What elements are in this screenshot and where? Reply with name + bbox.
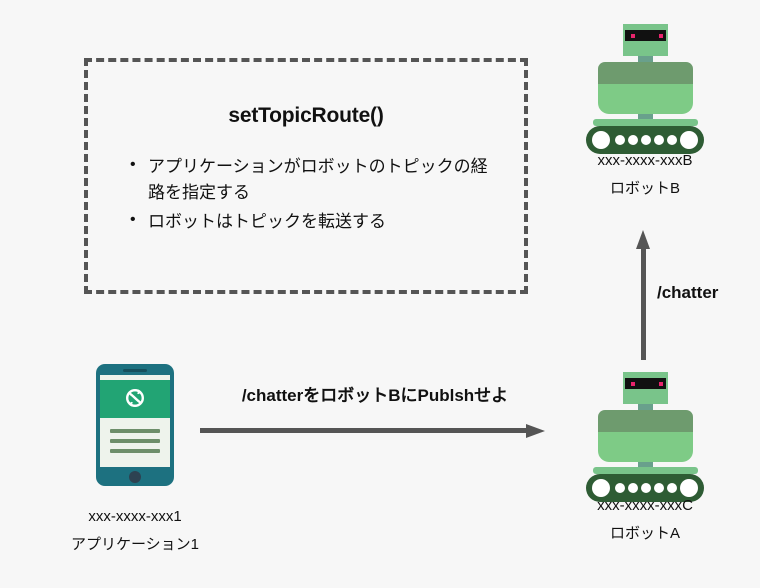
app-logo-icon <box>124 387 146 409</box>
robot-a-id: xxx-xxxx-xxxC <box>535 498 755 513</box>
robot-eye-left <box>631 34 635 38</box>
robot-wheel-small <box>641 135 651 145</box>
robot-wheel-large-left <box>592 131 610 149</box>
robot-wheel-small <box>654 135 664 145</box>
robot-body-lower <box>598 432 693 462</box>
phone-content-line <box>110 439 160 443</box>
application-caption: xxx-xxxx-xxx1 アプリケーション1 <box>25 509 245 552</box>
robot-chassis-bar <box>593 467 698 474</box>
phone-content-line <box>110 449 160 453</box>
arrow-label-publish-command: /chatterをロボットBにPublshせよ <box>200 381 550 406</box>
robot-eye-right <box>659 382 663 386</box>
robot-wheel-small <box>667 135 677 145</box>
robot-body-upper <box>598 410 693 432</box>
robot-eye-right <box>659 34 663 38</box>
robot-a-caption: xxx-xxxx-xxxC ロボットA <box>535 498 755 541</box>
phone-speaker-icon <box>123 369 147 372</box>
robot-wheel-small <box>641 483 651 493</box>
robot-wheel-large-left <box>592 479 610 497</box>
phone-home-button <box>129 471 141 483</box>
callout-bullet-list: アプリケーションがロボットのトピックの経路を指定する ロボットはトピックを転送す… <box>88 154 524 235</box>
robot-wheel-small <box>654 483 664 493</box>
robot-wheel-small <box>628 135 638 145</box>
callout-title: setTopicRoute() <box>88 104 524 128</box>
robot-chassis-bar <box>593 119 698 126</box>
arrow-robot-a-to-robot-b <box>636 230 650 360</box>
robot-eye-left <box>631 382 635 386</box>
phone-content-line <box>110 429 160 433</box>
robot-b-caption: xxx-xxxx-xxxB ロボットB <box>535 153 755 196</box>
arrow-head-right-icon <box>526 424 545 438</box>
robot-wheel-small <box>628 483 638 493</box>
robot-a-illustration <box>570 368 720 493</box>
callout-bullet-item: ロボットはトピックを転送する <box>130 209 498 235</box>
robot-b-id: xxx-xxxx-xxxB <box>535 153 755 168</box>
arrow-application-to-robot-a <box>200 424 545 438</box>
robot-body-upper <box>598 62 693 84</box>
robot-wheel-small <box>667 483 677 493</box>
robot-wheel-small <box>615 483 625 493</box>
arrow-label-chatter: /chatter <box>657 283 718 303</box>
robot-wheel-large-right <box>680 479 698 497</box>
application-id: xxx-xxxx-xxx1 <box>25 509 245 524</box>
diagram-canvas: setTopicRoute() アプリケーションがロボットのトピックの経路を指定… <box>0 0 760 588</box>
robot-wheel-large-right <box>680 131 698 149</box>
arrow-shaft <box>200 428 528 433</box>
phone-screen <box>100 375 170 467</box>
callout-box-set-topic-route: setTopicRoute() アプリケーションがロボットのトピックの経路を指定… <box>84 58 528 294</box>
application-phone-illustration <box>96 364 174 486</box>
callout-bullet-item: アプリケーションがロボットのトピックの経路を指定する <box>130 154 498 207</box>
application-name: アプリケーション1 <box>25 537 245 552</box>
arrow-shaft <box>641 245 646 360</box>
robot-a-name: ロボットA <box>535 526 755 541</box>
robot-body-lower <box>598 84 693 114</box>
robot-b-name: ロボットB <box>535 181 755 196</box>
robot-b-illustration <box>570 20 720 145</box>
robot-wheel-small <box>615 135 625 145</box>
